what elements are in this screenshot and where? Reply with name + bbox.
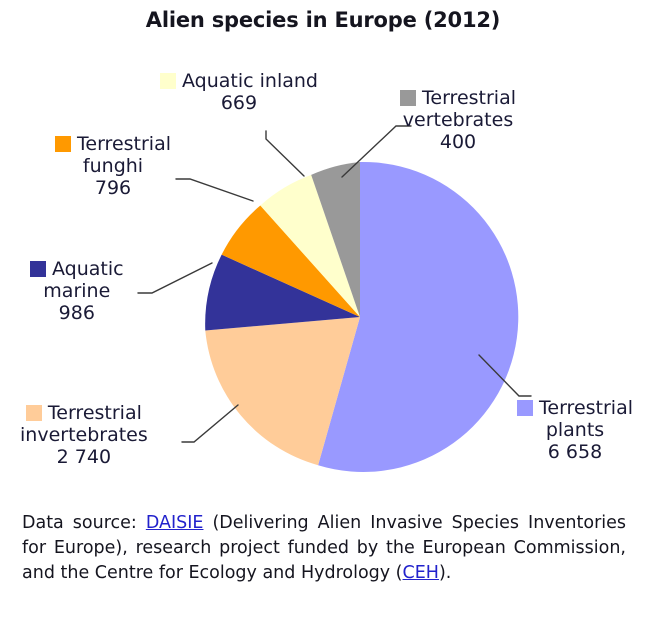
pie-label-terrestrial-invertebrates: Terrestrial invertebrates 2 740	[20, 402, 148, 468]
pie-label-terrestrial-plants-line2: plants	[517, 419, 633, 441]
pie-label-terrestrial-funghi: Terrestrial funghi 796	[55, 133, 171, 199]
source-note: Data source: DAISIE (Delivering Alien In…	[22, 511, 626, 586]
swatch-aquatic-marine	[30, 261, 46, 277]
pie-value-terrestrial-funghi: 796	[55, 177, 171, 199]
swatch-aquatic-inland	[160, 73, 176, 89]
pie-label-terrestrial-funghi-line1: Terrestrial	[77, 133, 171, 155]
source-note-prefix: Data source:	[22, 513, 146, 533]
pie-value-aquatic-inland: 669	[160, 92, 318, 114]
swatch-terrestrial-invertebrates	[26, 405, 42, 421]
pie-label-terrestrial-funghi-line2: funghi	[55, 155, 171, 177]
pie-label-terrestrial-vertebrates-line1: Terrestrial	[422, 87, 516, 109]
leader-line-terrestrial-funghi	[176, 179, 253, 201]
pie-chart-figure: Aquatic inland 669 Terrestrial vertebrat…	[0, 0, 646, 500]
pie-value-terrestrial-plants: 6 658	[517, 441, 633, 463]
pie-value-terrestrial-vertebrates: 400	[400, 131, 516, 153]
ceh-link[interactable]: CEH	[403, 563, 439, 583]
pie-label-terrestrial-vertebrates-line2: vertebrates	[400, 109, 516, 131]
daisie-link[interactable]: DAISIE	[146, 513, 204, 533]
pie-label-aquatic-marine-line2: marine	[30, 280, 124, 302]
pie-label-aquatic-marine-line1: Aquatic	[52, 258, 124, 280]
pie-label-terrestrial-vertebrates: Terrestrial vertebrates 400	[400, 87, 516, 153]
pie-label-terrestrial-plants-line1: Terrestrial	[539, 397, 633, 419]
swatch-terrestrial-funghi	[55, 136, 71, 152]
pie-label-terrestrial-plants: Terrestrial plants 6 658	[517, 397, 633, 463]
swatch-terrestrial-vertebrates	[400, 90, 416, 106]
leader-line-aquatic-marine	[138, 263, 212, 293]
pie-slices	[205, 162, 518, 472]
leader-line-terrestrial-invertebrates	[182, 405, 238, 442]
pie-label-aquatic-inland: Aquatic inland 669	[160, 70, 318, 114]
pie-value-aquatic-marine: 986	[30, 302, 124, 324]
pie-label-aquatic-marine: Aquatic marine 986	[30, 258, 124, 324]
pie-label-aquatic-inland-text: Aquatic inland	[182, 70, 318, 92]
swatch-terrestrial-plants	[517, 400, 533, 416]
pie-value-terrestrial-invertebrates: 2 740	[20, 446, 148, 468]
source-note-suffix: ).	[439, 563, 451, 583]
leader-line-aquatic-inland	[266, 131, 304, 176]
pie-label-terrestrial-invertebrates-line1: Terrestrial	[48, 402, 142, 424]
pie-label-terrestrial-invertebrates-line2: invertebrates	[20, 424, 148, 446]
